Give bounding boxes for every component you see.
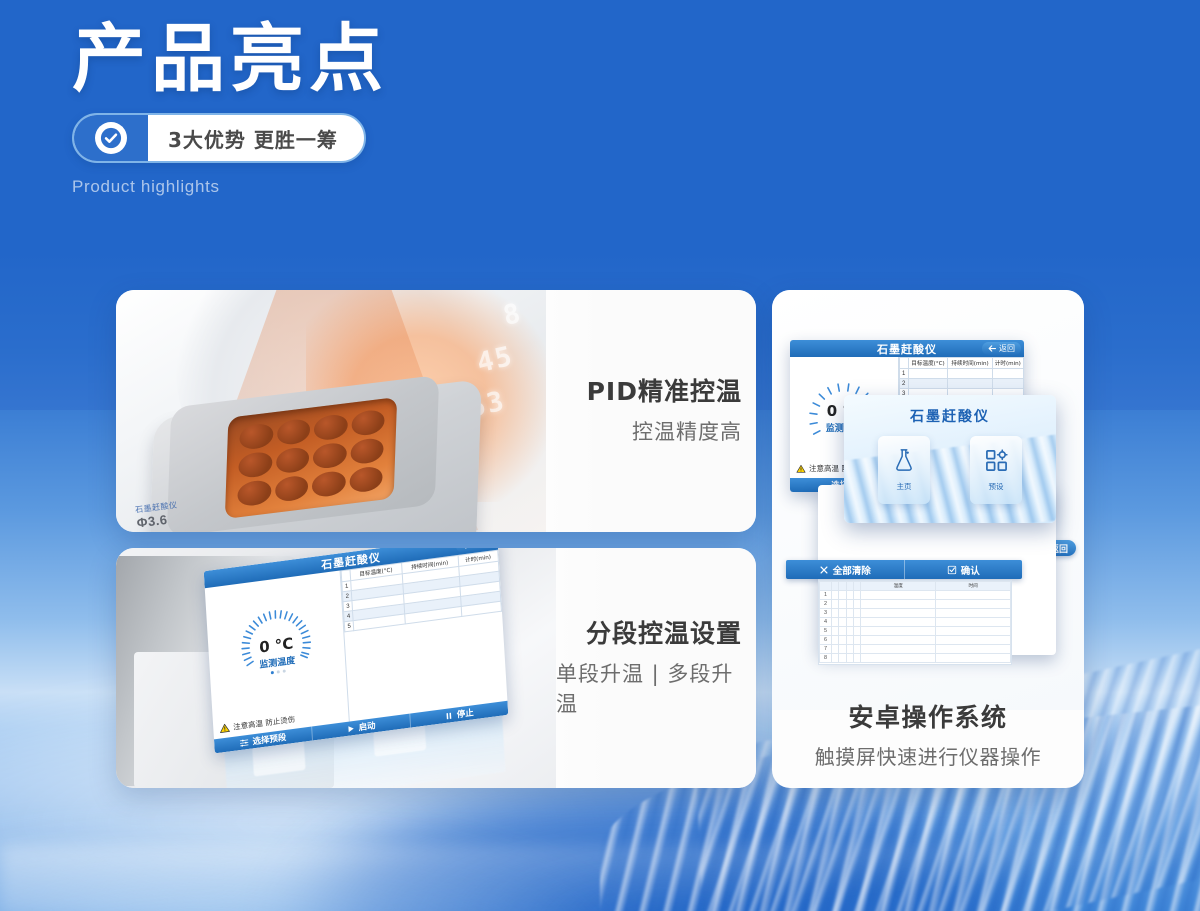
back-arrow-icon (462, 548, 471, 550)
table-row: 4 (820, 618, 1011, 627)
card-segment-text: 分段控温设置 单段升温 | 多段升温 (556, 548, 756, 788)
home-tile[interactable]: 主页 (878, 436, 930, 504)
card-os-heading: 安卓操作系统 (772, 698, 1084, 734)
sample-well-block (225, 397, 397, 519)
table-row: 6 (820, 636, 1011, 645)
page-subtitle: Product highlights (72, 177, 388, 197)
table-row: 8 (820, 654, 1011, 663)
warning-triangle-icon (796, 464, 806, 474)
warning-triangle-icon (219, 722, 231, 734)
check-circle-icon (95, 122, 127, 154)
table-row: 2 (899, 379, 1023, 389)
preset-grid-table[interactable]: 温度 时间 1 2 3 4 5 6 7 8 (818, 580, 1012, 665)
temperature-gauge: 0 °C 监测温度 注意高温 防止 (205, 571, 349, 740)
modal-title: 石墨赶酸仪 (844, 406, 1056, 426)
modal-tiles: 主页 (844, 436, 1056, 504)
play-icon (346, 723, 355, 733)
card-pid-subheading: 控温精度高 (632, 416, 742, 446)
table-row: 1 (820, 591, 1011, 600)
card-pid[interactable]: 8 45 53 石墨赶酸仪 Φ3.6 (116, 290, 756, 532)
android-screens-photo: 石墨赶酸仪 返回 (772, 290, 1084, 710)
card-os-text: 安卓操作系统 触摸屏快速进行仪器操作 (772, 698, 1084, 770)
card-segment-control[interactable]: 石墨赶酸仪 返回 (116, 548, 756, 788)
heating-block-photo: 8 45 53 石墨赶酸仪 Φ3.6 (116, 290, 546, 532)
table-row: 3 (820, 609, 1011, 618)
highlight-badge: 3大优势 更胜一筹 (72, 113, 366, 163)
page-title: 产品亮点 (72, 22, 388, 97)
card-pid-text: PID精准控温 控温精度高 (546, 290, 756, 532)
table-row: 2 (820, 600, 1011, 609)
screen-title: 石墨赶酸仪 (877, 341, 937, 357)
segment-table[interactable]: 目标温度(°C) 持续时间(min) 计时(min) 1 2 3 4 5 (340, 550, 508, 722)
back-button[interactable]: 返回 (982, 342, 1021, 355)
badge-label: 3大优势 更胜一筹 (148, 115, 364, 161)
back-arrow-icon (988, 344, 997, 353)
grid-settings-icon (985, 449, 1008, 472)
preset-tile[interactable]: 预设 (970, 436, 1022, 504)
card-pid-heading: PID精准控温 (587, 376, 742, 407)
table-row: 7 (820, 645, 1011, 654)
card-segment-subheading: 单段升温 | 多段升温 (556, 658, 742, 718)
badge-icon-area (74, 115, 148, 161)
table-row: 5 (820, 627, 1011, 636)
confirm-button[interactable]: 确认 (905, 560, 1023, 579)
home-tile-label: 主页 (897, 481, 912, 492)
home-menu-modal[interactable]: 石墨赶酸仪 主页 (844, 395, 1056, 523)
screen-titlebar: 石墨赶酸仪 返回 (790, 340, 1024, 357)
sliders-icon (239, 737, 250, 748)
pause-icon (445, 710, 454, 720)
preset-tile-label: 预设 (989, 481, 1004, 492)
screen-action-bar: 全部清除 确认 (786, 560, 1022, 579)
table-row: 1 (899, 369, 1023, 379)
card-android-os[interactable]: 石墨赶酸仪 返回 (772, 290, 1084, 788)
check-box-icon (947, 565, 957, 575)
card-os-subheading: 触摸屏快速进行仪器操作 (772, 741, 1084, 770)
clear-all-button[interactable]: 全部清除 (786, 560, 905, 579)
segment-control-screen-photo: 石墨赶酸仪 返回 (116, 548, 556, 788)
card-segment-heading: 分段控温设置 (586, 618, 742, 649)
page-header: 产品亮点 3大优势 更胜一筹 Product highlights (72, 22, 388, 197)
close-x-icon (819, 565, 829, 575)
instrument-badge: 石墨赶酸仪 Φ3.6 (135, 500, 180, 531)
flask-icon (893, 448, 915, 472)
